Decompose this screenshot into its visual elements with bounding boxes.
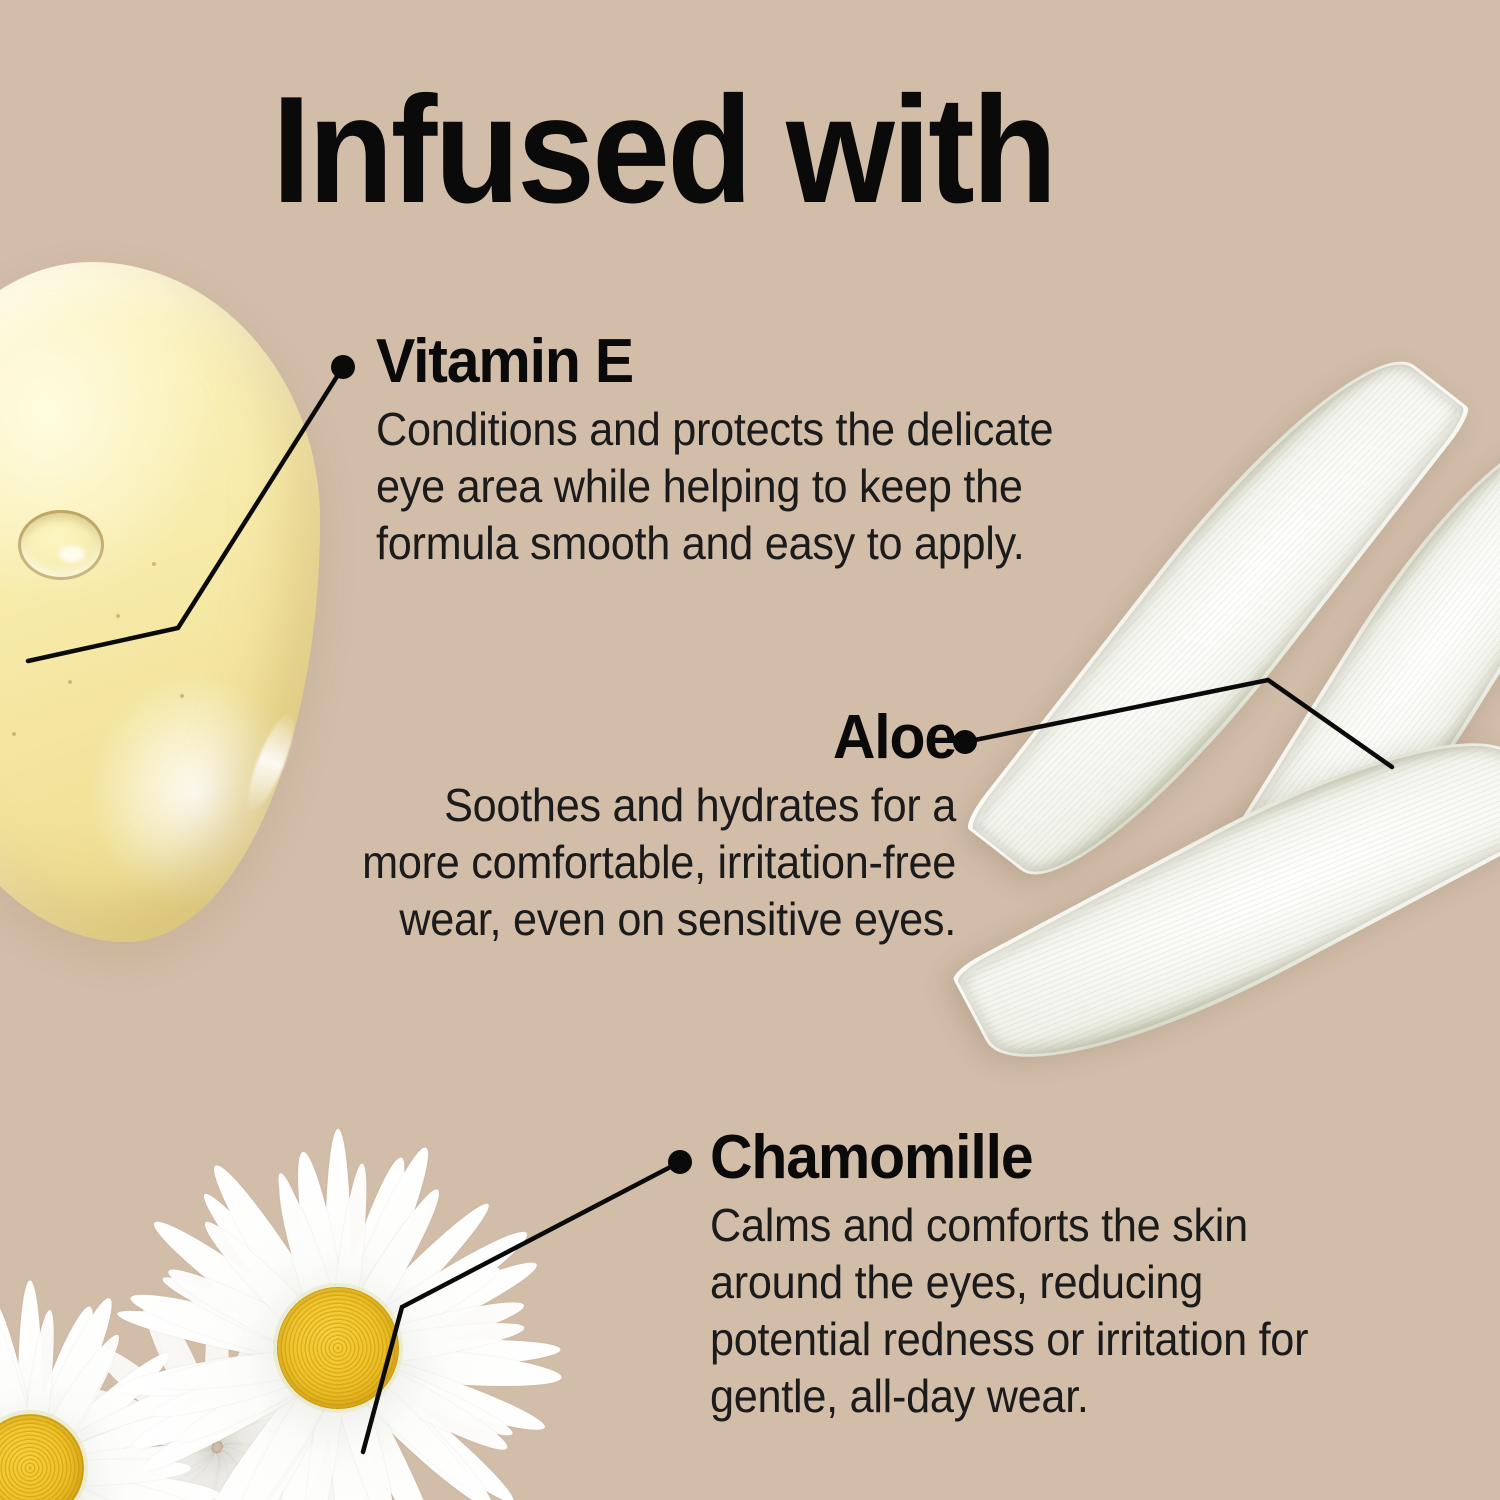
serum-speck <box>180 694 184 698</box>
flower-center <box>277 1287 399 1409</box>
ingredient-name-vitamin-e: Vitamin E <box>376 330 1070 393</box>
page-title: Infused with <box>272 74 1055 226</box>
leader-vitamin-e-dot <box>331 355 355 379</box>
serum-speck <box>152 562 156 566</box>
ingredient-description-chamomille: Calms and comforts the skin around the e… <box>710 1197 1368 1425</box>
ingredient-description-vitamin-e: Conditions and protects the delicate eye… <box>376 401 1062 572</box>
leader-chamomille-dot <box>668 1150 692 1174</box>
serum-speck <box>116 614 120 618</box>
infographic-canvas: Infused with Vitamin E Conditions and pr… <box>0 0 1500 1500</box>
chamomille-flowers-image <box>0 1090 640 1500</box>
serum-speck <box>12 732 16 736</box>
ingredient-block-vitamin-e: Vitamin E Conditions and protects the de… <box>376 330 1106 572</box>
serum-speck <box>68 680 72 684</box>
chamomille-flower <box>110 1120 566 1500</box>
serum-blob-shape <box>0 262 320 942</box>
serum-bubble <box>18 510 104 580</box>
ingredient-name-aloe: Aloe <box>348 706 956 769</box>
ingredient-name-chamomille: Chamomille <box>710 1126 1375 1189</box>
ingredient-block-aloe: Aloe Soothes and hydrates for a more com… <box>316 706 956 948</box>
vitamin-e-serum-image <box>0 262 320 942</box>
ingredient-description-aloe: Soothes and hydrates for a more comforta… <box>354 777 956 948</box>
ingredient-block-chamomille: Chamomille Calms and comforts the skin a… <box>710 1126 1410 1425</box>
aloe-leaves-image <box>1055 290 1500 1050</box>
leader-aloe-dot <box>953 730 977 754</box>
